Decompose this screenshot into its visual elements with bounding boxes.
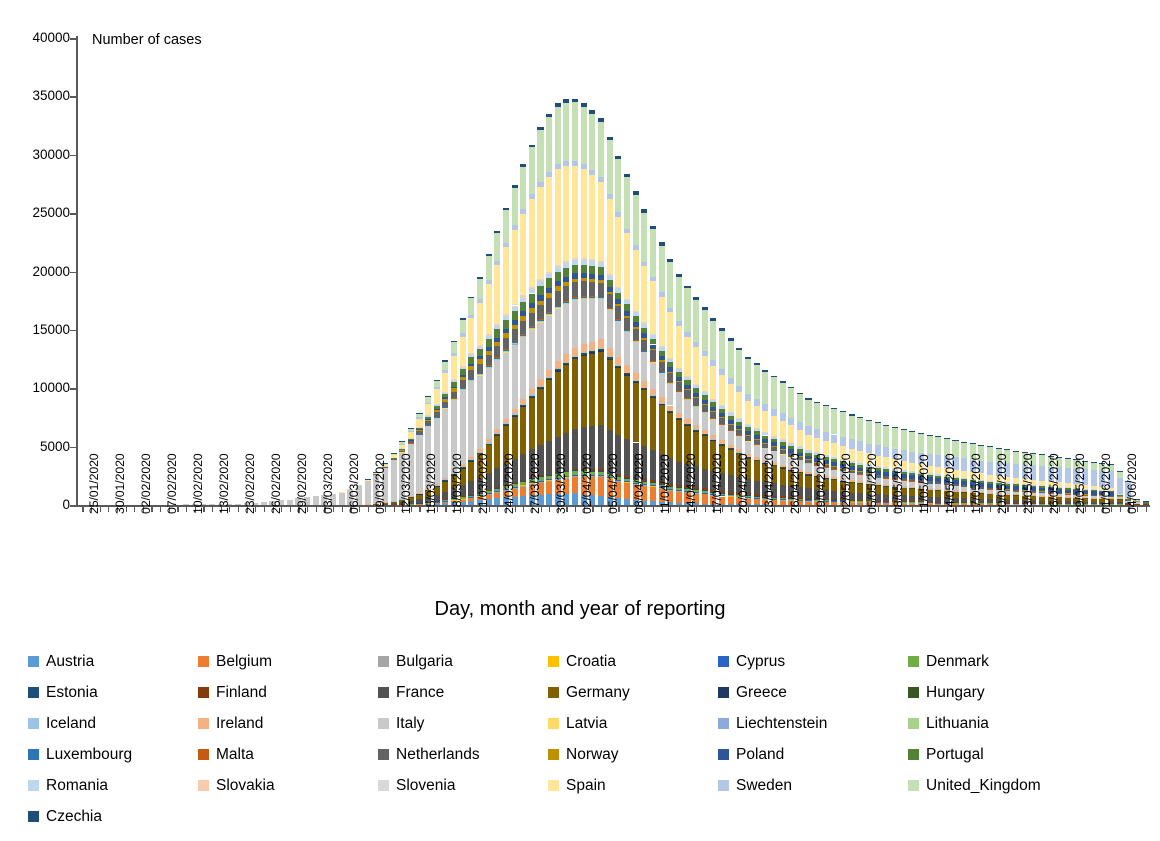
bar-stack[interactable] (1073, 38, 1079, 505)
bar-stack[interactable] (520, 38, 526, 505)
bar-stack[interactable] (1039, 38, 1045, 505)
bar-stack[interactable] (408, 38, 414, 505)
bar-stack[interactable] (287, 38, 293, 505)
legend-item-latvia[interactable]: Latvia (548, 715, 607, 733)
bar-segment (546, 273, 552, 274)
bar-segment (754, 431, 760, 435)
legend-label: Belgium (216, 653, 272, 671)
bar-segment (1117, 478, 1123, 495)
bar-segment (546, 298, 552, 313)
bar-stack[interactable] (771, 38, 777, 505)
bar-stack[interactable] (978, 38, 984, 505)
bar-segment (451, 388, 457, 391)
bar-stack[interactable] (719, 38, 725, 505)
bar-segment (477, 364, 483, 373)
legend-item-portugal[interactable]: Portugal (908, 746, 984, 764)
bar-stack[interactable] (693, 38, 699, 505)
bar-segment (520, 486, 526, 487)
bar-segment (512, 345, 518, 409)
bar-stack[interactable] (1117, 38, 1123, 505)
bar-stack[interactable] (244, 38, 250, 505)
bar-stack[interactable] (1013, 38, 1019, 505)
bar-segment (339, 492, 345, 505)
bar-stack[interactable] (1082, 38, 1088, 505)
bar-stack[interactable] (166, 38, 172, 505)
bar-stack[interactable] (572, 38, 578, 505)
bar-segment (676, 419, 682, 420)
bar-segment (589, 351, 595, 352)
legend-item-croatia[interactable]: Croatia (548, 653, 616, 671)
bar-segment (935, 476, 941, 478)
bar-segment (494, 342, 500, 347)
bar-segment (520, 399, 526, 404)
bar-stack[interactable] (1022, 38, 1028, 505)
bar-segment (684, 389, 690, 390)
bar-segment (503, 247, 509, 314)
bar-stack[interactable] (961, 38, 967, 505)
legend-item-denmark[interactable]: Denmark (908, 653, 989, 671)
bar-stack[interactable] (762, 38, 768, 505)
bar-stack[interactable] (555, 38, 561, 505)
bar-stack[interactable] (598, 38, 604, 505)
bar-segment (494, 359, 500, 360)
bar-segment (607, 194, 613, 199)
bar-segment (607, 308, 613, 309)
bar-segment (624, 482, 630, 483)
bar-stack[interactable] (546, 38, 552, 505)
bar-stack[interactable] (157, 38, 163, 505)
bar-stack[interactable] (935, 38, 941, 505)
legend-item-finland[interactable]: Finland (198, 684, 267, 702)
bar-segment (512, 225, 518, 230)
bar-segment (633, 250, 639, 311)
bar-segment (728, 424, 734, 430)
bar-segment (762, 404, 768, 411)
bar-stack[interactable] (702, 38, 708, 505)
bar-stack[interactable] (468, 38, 474, 505)
bar-segment (581, 352, 587, 353)
bar-stack[interactable] (563, 38, 569, 505)
bar-stack[interactable] (382, 38, 388, 505)
legend-swatch-icon (718, 656, 729, 667)
bar-segment (710, 399, 716, 402)
bar-segment (460, 337, 466, 366)
legend-item-iceland[interactable]: Iceland (28, 715, 96, 733)
bar-segment (693, 397, 699, 398)
legend-item-slovakia[interactable]: Slovakia (198, 777, 275, 795)
bar-segment (589, 259, 595, 260)
bar-stack[interactable] (745, 38, 751, 505)
bar-segment (589, 354, 595, 426)
bar-segment (987, 447, 993, 462)
bar-segment (477, 277, 483, 279)
bar-segment (1065, 497, 1071, 501)
bar-stack[interactable] (339, 38, 345, 505)
bar-stack[interactable] (633, 38, 639, 505)
bar-segment (598, 177, 604, 182)
x-axis-label: 09/03/2020 (373, 453, 387, 514)
legend-item-malta[interactable]: Malta (198, 746, 254, 764)
bar-segment (1143, 501, 1149, 502)
bar-segment (512, 409, 518, 414)
bar-stack[interactable] (901, 38, 907, 505)
bar-stack[interactable] (391, 38, 397, 505)
legend-item-norway[interactable]: Norway (548, 746, 619, 764)
bar-stack[interactable] (797, 38, 803, 505)
legend-item-united_kingdom[interactable]: United_Kingdom (908, 777, 1041, 795)
bar-stack[interactable] (849, 38, 855, 505)
bar-segment (486, 256, 492, 279)
bar-stack[interactable] (278, 38, 284, 505)
bar-segment (615, 367, 621, 368)
bar-stack[interactable] (1030, 38, 1036, 505)
x-axis-tick (990, 505, 991, 512)
x-axis-tick (783, 505, 784, 512)
legend-label: United_Kingdom (926, 777, 1041, 795)
bar-stack[interactable] (1099, 38, 1105, 505)
legend-item-luxembourg[interactable]: Luxembourg (28, 746, 132, 764)
bar-segment (581, 260, 587, 265)
bar-stack[interactable] (494, 38, 500, 505)
bar-stack[interactable] (676, 38, 682, 505)
bar-segment (520, 321, 526, 334)
bar-segment (572, 475, 578, 476)
bar-segment (1143, 503, 1149, 504)
bar-stack[interactable] (970, 38, 976, 505)
bar-segment (805, 400, 811, 427)
bar-stack[interactable] (814, 38, 820, 505)
y-axis-label: 30000 (8, 147, 70, 162)
bar-stack[interactable] (840, 38, 846, 505)
bar-stack[interactable] (831, 38, 837, 505)
legend-item-spain[interactable]: Spain (548, 777, 606, 795)
bar-stack[interactable] (607, 38, 613, 505)
bar-segment (805, 488, 811, 498)
legend-item-belgium[interactable]: Belgium (198, 653, 272, 671)
bar-stack[interactable] (1134, 38, 1140, 505)
bar-segment (572, 429, 578, 469)
bar-stack[interactable] (356, 38, 362, 505)
bar-segment (805, 450, 811, 453)
bar-stack[interactable] (857, 38, 863, 505)
bar-stack[interactable] (529, 38, 535, 505)
legend-item-ireland[interactable]: Ireland (198, 715, 263, 733)
bar-segment (780, 465, 786, 467)
bar-segment (546, 274, 552, 279)
x-axis-label: 26/02/2020 (269, 453, 283, 514)
bar-segment (650, 350, 656, 361)
bar-stack[interactable] (987, 38, 993, 505)
bar-stack[interactable] (486, 38, 492, 505)
bar-segment (762, 372, 768, 405)
bar-stack[interactable] (460, 38, 466, 505)
bar-segment (529, 396, 535, 397)
bar-segment (909, 481, 915, 487)
bar-segment (710, 360, 716, 366)
bar-segment (883, 472, 889, 476)
bar-segment (537, 286, 543, 295)
legend-label: Liechtenstein (736, 715, 827, 733)
bar-segment (520, 404, 526, 405)
legend-item-lithuania[interactable]: Lithuania (908, 715, 989, 733)
bar-stack[interactable] (996, 38, 1002, 505)
bar-stack[interactable] (131, 38, 137, 505)
bar-segment (676, 485, 682, 487)
bar-segment (909, 452, 915, 463)
bar-stack[interactable] (641, 38, 647, 505)
bar-segment (1091, 486, 1097, 489)
bar-segment (1091, 470, 1097, 486)
legend-item-sweden[interactable]: Sweden (718, 777, 792, 795)
bar-stack[interactable] (373, 38, 379, 505)
bar-segment (503, 350, 509, 352)
bar-stack[interactable] (624, 38, 630, 505)
bar-stack[interactable] (728, 38, 734, 505)
bar-stack[interactable] (105, 38, 111, 505)
bar-segment (598, 471, 604, 472)
bar-segment (607, 292, 613, 294)
bar-stack[interactable] (780, 38, 786, 505)
bar-stack[interactable] (503, 38, 509, 505)
bar-segment (771, 436, 777, 439)
bar-segment (537, 322, 543, 379)
bar-segment (486, 284, 492, 334)
bar-stack[interactable] (710, 38, 716, 505)
y-axis-label: 5000 (8, 439, 70, 454)
legend-item-estonia[interactable]: Estonia (28, 684, 98, 702)
bar-stack[interactable] (226, 38, 232, 505)
bar-stack[interactable] (442, 38, 448, 505)
bar-stack[interactable] (269, 38, 275, 505)
bar-segment (563, 362, 569, 363)
x-axis-label: 02/02/2020 (139, 453, 153, 514)
bar-segment (451, 379, 457, 380)
bar-stack[interactable] (927, 38, 933, 505)
bar-segment (935, 484, 941, 489)
bar-segment (659, 292, 665, 297)
bar-stack[interactable] (200, 38, 206, 505)
bar-stack[interactable] (909, 38, 915, 505)
x-axis-label: 11/05/2020 (917, 454, 931, 514)
bar-segment (494, 360, 500, 429)
bar-segment (391, 459, 397, 460)
bar-segment (581, 355, 587, 356)
bar-stack[interactable] (866, 38, 872, 505)
bar-stack[interactable] (174, 38, 180, 505)
bar-stack[interactable] (788, 38, 794, 505)
bar-segment (512, 325, 518, 330)
bar-segment (892, 427, 898, 428)
bar-stack[interactable] (434, 38, 440, 505)
bar-segment (434, 389, 440, 404)
bar-segment (814, 403, 820, 429)
bar-stack[interactable] (313, 38, 319, 505)
bar-segment (468, 498, 474, 501)
bar-stack[interactable] (365, 38, 371, 505)
bar-stack[interactable] (892, 38, 898, 505)
legend-item-liechtenstein[interactable]: Liechtenstein (718, 715, 827, 733)
bar-stack[interactable] (512, 38, 518, 505)
bar-segment (1013, 491, 1019, 494)
bar-segment (442, 402, 448, 407)
bar-stack[interactable] (537, 38, 543, 505)
bar-stack[interactable] (451, 38, 457, 505)
bar-segment (503, 424, 509, 425)
legend-item-czechia[interactable]: Czechia (28, 808, 102, 826)
legend-item-hungary[interactable]: Hungary (908, 684, 985, 702)
bar-segment (512, 230, 518, 305)
bar-stack[interactable] (218, 38, 224, 505)
bar-segment (961, 479, 967, 481)
bar-stack[interactable] (321, 38, 327, 505)
bar-stack[interactable] (183, 38, 189, 505)
bar-segment (805, 474, 811, 475)
bar-segment (572, 102, 578, 160)
bar-segment (710, 366, 716, 399)
bar-segment (624, 483, 630, 499)
bar-stack[interactable] (659, 38, 665, 505)
bar-stack[interactable] (1108, 38, 1114, 505)
bar-stack[interactable] (952, 38, 958, 505)
bar-stack[interactable] (823, 38, 829, 505)
bar-segment (468, 495, 474, 497)
bar-segment (754, 457, 760, 460)
bar-stack[interactable] (148, 38, 154, 505)
bar-segment (780, 500, 786, 501)
bar-stack[interactable] (1143, 38, 1149, 505)
bar-segment (477, 359, 483, 363)
bar-segment (650, 389, 656, 395)
bar-segment (702, 391, 708, 392)
bar-stack[interactable] (425, 38, 431, 505)
legend-item-slovenia[interactable]: Slovenia (378, 777, 455, 795)
bar-stack[interactable] (477, 38, 483, 505)
bar-stack[interactable] (650, 38, 656, 505)
bar-segment (641, 209, 647, 212)
bar-segment (676, 381, 682, 382)
legend-swatch-icon (28, 687, 39, 698)
bar-stack[interactable] (330, 38, 336, 505)
bar-stack[interactable] (295, 38, 301, 505)
bar-segment (650, 395, 656, 396)
bar-segment (805, 453, 811, 456)
y-axis-label: 0 (8, 497, 70, 512)
bar-segment (572, 471, 578, 475)
bar-stack[interactable] (123, 38, 129, 505)
bar-stack[interactable] (589, 38, 595, 505)
bar-segment (1039, 486, 1045, 488)
bar-segment (546, 314, 552, 315)
bar-stack[interactable] (1065, 38, 1071, 505)
legend-item-italy[interactable]: Italy (378, 715, 424, 733)
bar-segment (460, 369, 466, 374)
bar-stack[interactable] (416, 38, 422, 505)
bar-segment (512, 415, 518, 416)
bar-stack[interactable] (754, 38, 760, 505)
bar-stack[interactable] (918, 38, 924, 505)
bar-stack[interactable] (399, 38, 405, 505)
bar-stack[interactable] (97, 38, 103, 505)
bar-stack[interactable] (140, 38, 146, 505)
bar-segment (598, 348, 604, 349)
bar-segment (754, 498, 760, 499)
bar-stack[interactable] (736, 38, 742, 505)
legend-item-cyprus[interactable]: Cyprus (718, 653, 785, 671)
bar-stack[interactable] (347, 38, 353, 505)
bar-stack[interactable] (805, 38, 811, 505)
legend-item-austria[interactable]: Austria (28, 653, 94, 671)
bar-stack[interactable] (235, 38, 241, 505)
bar-segment (442, 500, 448, 501)
bar-segment (1013, 486, 1019, 490)
bar-segment (607, 276, 613, 280)
bar-stack[interactable] (581, 38, 587, 505)
bar-segment (710, 318, 716, 320)
x-axis-tick (731, 505, 732, 512)
bar-stack[interactable] (1125, 38, 1131, 505)
bar-stack[interactable] (252, 38, 258, 505)
bar-segment (754, 435, 760, 439)
bar-stack[interactable] (209, 38, 215, 505)
bar-segment (684, 419, 690, 423)
bar-stack[interactable] (667, 38, 673, 505)
legend-item-greece[interactable]: Greece (718, 684, 787, 702)
bar-segment (581, 265, 587, 273)
legend-item-netherlands[interactable]: Netherlands (378, 746, 480, 764)
bar-segment (520, 316, 526, 321)
legend-item-bulgaria[interactable]: Bulgaria (378, 653, 453, 671)
bar-stack[interactable] (192, 38, 198, 505)
bar-segment (615, 357, 621, 365)
bar-stack[interactable] (261, 38, 267, 505)
x-axis-label: 05/04/2020 (606, 453, 620, 514)
bar-segment (641, 389, 647, 390)
bar-stack[interactable] (1048, 38, 1054, 505)
bar-segment (728, 475, 734, 491)
bar-segment (857, 481, 863, 482)
bar-segment (598, 283, 604, 297)
bar-stack[interactable] (615, 38, 621, 505)
bar-segment (391, 455, 397, 458)
bar-segment (512, 188, 518, 225)
bar-stack[interactable] (883, 38, 889, 505)
bar-segment (831, 459, 837, 462)
bar-stack[interactable] (1056, 38, 1062, 505)
bar-segment (1065, 501, 1071, 503)
legend-item-germany[interactable]: Germany (548, 684, 630, 702)
legend-item-romania[interactable]: Romania (28, 777, 108, 795)
legend-item-france[interactable]: France (378, 684, 444, 702)
bar-stack[interactable] (1091, 38, 1097, 505)
bar-segment (728, 420, 734, 424)
bar-stack[interactable] (684, 38, 690, 505)
bar-stack[interactable] (88, 38, 94, 505)
bar-stack[interactable] (114, 38, 120, 505)
bar-stack[interactable] (1004, 38, 1010, 505)
bar-stack[interactable] (875, 38, 881, 505)
bar-segment (883, 467, 889, 469)
bar-stack[interactable] (304, 38, 310, 505)
bar-stack[interactable] (944, 38, 950, 505)
bar-segment (451, 353, 457, 356)
legend-item-poland[interactable]: Poland (718, 746, 784, 764)
bar-segment (529, 398, 535, 449)
bar-segment (529, 145, 535, 148)
bar-segment (589, 350, 595, 351)
bar-segment (520, 480, 526, 481)
bar-stack[interactable] (79, 38, 85, 505)
y-axis-tick (70, 213, 77, 215)
